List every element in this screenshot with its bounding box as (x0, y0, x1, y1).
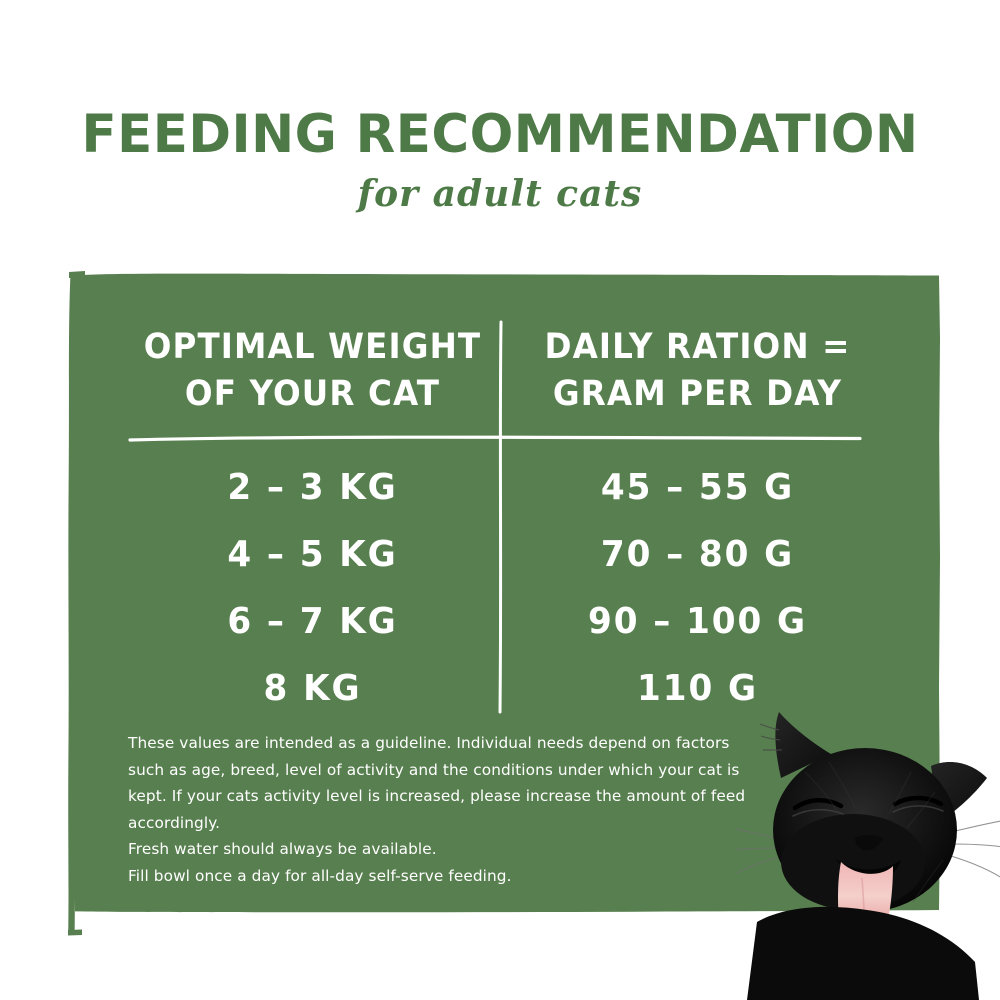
column-header-weight: OPTIMAL WEIGHT OF YOUR CAT (138, 324, 487, 418)
column-header-weight-line2: OF YOUR CAT (138, 371, 487, 418)
page-title: FEEDING RECOMMENDATION (15, 108, 985, 161)
ration-values: 45 – 55 G 70 – 80 G 90 – 100 G 110 G (510, 454, 885, 722)
table-row: 4 – 5 KG (134, 521, 490, 588)
table-row: 6 – 7 KG (134, 588, 490, 655)
table-row: 70 – 80 G (519, 521, 875, 588)
column-header-ration: DAILY RATION = GRAM PER DAY (523, 324, 872, 418)
column-header-ration-line2: GRAM PER DAY (523, 371, 872, 418)
page-subtitle: for adult cats (0, 176, 1000, 212)
cat-body (747, 907, 979, 1000)
cat-illustration (735, 700, 1000, 1000)
fineprint-paragraph-2: Fresh water should always be available. (128, 836, 748, 863)
column-header-ration-line1: DAILY RATION = (523, 324, 872, 371)
cat-photo (735, 700, 1000, 1000)
table-row: 8 KG (134, 655, 490, 722)
table-row: 45 – 55 G (519, 454, 875, 521)
weight-values: 2 – 3 KG 4 – 5 KG 6 – 7 KG 8 KG (125, 454, 500, 722)
header: FEEDING RECOMMENDATION for adult cats (0, 0, 1000, 260)
table-row: 2 – 3 KG (134, 454, 490, 521)
column-header-weight-line1: OPTIMAL WEIGHT (138, 324, 487, 371)
fineprint-paragraph-1: These values are intended as a guideline… (128, 730, 748, 836)
fineprint-paragraph-3: Fill bowl once a day for all-day self-se… (128, 863, 748, 890)
table-row: 90 – 100 G (519, 588, 875, 655)
fineprint-block: These values are intended as a guideline… (128, 730, 748, 889)
